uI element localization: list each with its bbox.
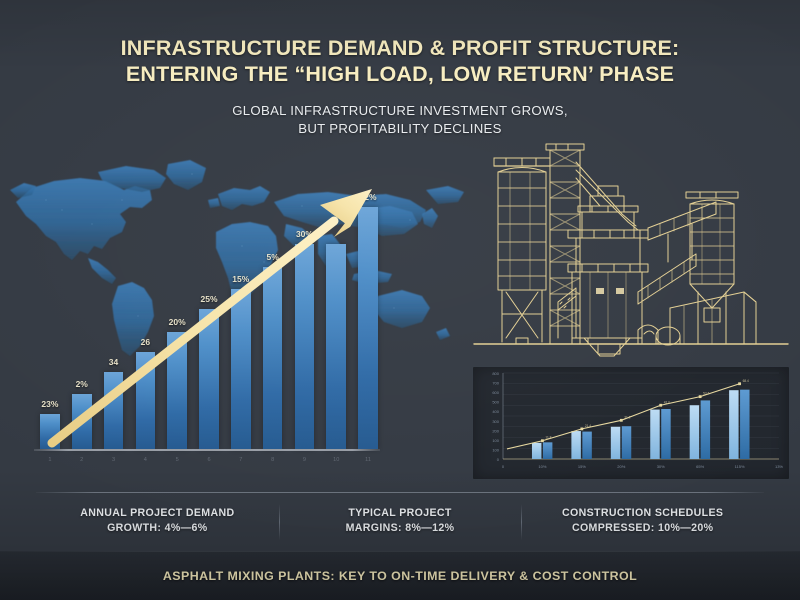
inset-line-marker: [541, 439, 544, 442]
inset-x-tick: 65%: [696, 464, 704, 469]
inset-y-tick: 100: [492, 438, 499, 443]
x-axis-tick: 5: [176, 457, 179, 463]
bar: [358, 207, 378, 450]
inset-y-tick: 500: [492, 400, 499, 405]
inset-y-tick: 100: [492, 447, 499, 452]
inset-x-tick: 0: [502, 464, 505, 469]
footer-text: ASPHALT MIXING PLANTS: KEY TO ON-TIME DE…: [163, 569, 637, 583]
bar: [295, 244, 315, 449]
x-axis-tick: 11: [365, 457, 371, 463]
chart-baseline-axis: [34, 449, 380, 451]
inset-bar: [690, 405, 699, 459]
inset-line-label: 53.6: [703, 392, 709, 396]
stat-value: COMPRESSED: 10%—20%: [521, 521, 764, 536]
main-bar-chart: 23%2%342620%25%15%5%30%22% 1234567891011: [34, 175, 384, 475]
infographic-poster: INFRASTRUCTURE DEMAND & PROFIT STRUCTURE…: [0, 0, 800, 600]
x-axis-tick: 4: [144, 457, 147, 463]
inset-line-marker: [659, 404, 662, 407]
inset-bar: [661, 409, 670, 459]
inset-y-tick: 800: [492, 371, 499, 376]
inset-line-marker: [699, 395, 702, 398]
header: INFRASTRUCTURE DEMAND & PROFIT STRUCTURE…: [0, 36, 800, 137]
inset-x-tick: 15%: [578, 464, 586, 469]
inset-y-tick: 200: [492, 428, 499, 433]
x-axis-tick: 2: [80, 457, 83, 463]
stat-label: TYPICAL PROJECT: [279, 506, 522, 521]
inset-line-label: 11.8: [545, 436, 551, 440]
bar-value-label: 30%: [296, 229, 313, 239]
inset-bar: [740, 390, 749, 459]
stat-value: MARGINS: 8%—12%: [279, 521, 522, 536]
inset-line-marker: [580, 428, 583, 431]
bar: [199, 309, 219, 449]
inset-line-label: 68.4: [743, 379, 749, 383]
inset-line-marker: [738, 382, 741, 385]
inset-y-tick: 600: [492, 390, 499, 395]
bar-value-label: 22%: [360, 192, 377, 202]
bar-value-label: 23%: [41, 399, 58, 409]
stat-item: TYPICAL PROJECTMARGINS: 8%—12%: [279, 502, 522, 537]
subtitle-line-2: BUT PROFITABILITY DECLINES: [0, 120, 800, 138]
inset-trend-chart: 800700600500400300200100100011.821.431.2…: [472, 366, 790, 480]
asphalt-plant-illustration: [472, 142, 790, 360]
x-axis-tick: 3: [112, 457, 115, 463]
stat-divider: [279, 504, 280, 540]
x-axis-tick: 1: [48, 457, 51, 463]
title-line-1: INFRASTRUCTURE DEMAND & PROFIT STRUCTURE…: [0, 36, 800, 61]
inset-bar: [582, 432, 591, 459]
bar: [326, 244, 346, 449]
inset-y-tick: 300: [492, 419, 499, 424]
bar: [167, 332, 187, 450]
inset-x-tick: 10%: [538, 464, 546, 469]
stat-label: CONSTRUCTION SCHEDULES: [521, 506, 764, 521]
inset-line-label: 42.0: [664, 400, 670, 404]
inset-bar: [543, 442, 552, 459]
inset-bar: [701, 400, 710, 459]
bar: [40, 414, 60, 449]
bar-group: 23%2%342620%25%15%5%30%22%: [34, 199, 384, 449]
bar-value-label: 5%: [266, 252, 278, 262]
stat-item: ANNUAL PROJECT DEMANDGROWTH: 4%—6%: [36, 502, 279, 537]
stat-label: ANNUAL PROJECT DEMAND: [36, 506, 279, 521]
stat-divider: [521, 504, 522, 540]
subtitle: GLOBAL INFRASTRUCTURE INVESTMENT GROWS, …: [0, 102, 800, 138]
bar-value-label: 34: [109, 357, 118, 367]
bar: [72, 394, 92, 449]
inset-bar: [650, 410, 659, 459]
bar-value-label: 25%: [200, 294, 217, 304]
x-axis-tick: 9: [303, 457, 306, 463]
inset-line-label: 21.4: [585, 424, 591, 428]
inset-x-tick: 115%: [735, 464, 745, 469]
footer-banner: ASPHALT MIXING PLANTS: KEY TO ON-TIME DE…: [0, 551, 800, 600]
inset-bar: [622, 426, 631, 459]
bar: [263, 267, 283, 450]
bar-value-label: 15%: [232, 274, 249, 284]
stats-bar: ANNUAL PROJECT DEMANDGROWTH: 4%—6%TYPICA…: [36, 502, 764, 546]
inset-y-tick: 400: [492, 409, 499, 414]
inset-y-tick: 0: [497, 457, 500, 462]
bar-value-label: 2%: [76, 379, 88, 389]
inset-x-tick: 20%: [617, 464, 625, 469]
inset-bar: [571, 431, 580, 459]
inset-x-tick: 30%: [657, 464, 665, 469]
inset-x-tick: 13%: [775, 464, 783, 469]
inset-bar: [729, 390, 738, 459]
stat-value: GROWTH: 4%—6%: [36, 521, 279, 536]
inset-bar: [611, 427, 620, 459]
bar-value-label: 20%: [169, 317, 186, 327]
x-axis-tick: 8: [271, 457, 274, 463]
bar-value-label: 26: [141, 337, 150, 347]
bar: [136, 352, 156, 450]
inset-y-tick: 700: [492, 381, 499, 386]
inset-bar: [532, 443, 541, 459]
subtitle-line-1: GLOBAL INFRASTRUCTURE INVESTMENT GROWS,: [0, 102, 800, 120]
x-axis-tick: 10: [333, 457, 339, 463]
bar: [231, 289, 251, 449]
stats-divider-rule: [36, 492, 764, 493]
title-line-2: ENTERING THE “HIGH LOAD, LOW RETURN’ PHA…: [0, 62, 800, 87]
stat-item: CONSTRUCTION SCHEDULESCOMPRESSED: 10%—20…: [521, 502, 764, 537]
x-axis-tick: 7: [239, 457, 242, 463]
x-axis-tick: 6: [207, 457, 210, 463]
inset-line-label: 31.2: [624, 415, 630, 419]
bar: [104, 372, 124, 450]
inset-line-marker: [620, 419, 623, 422]
inset-chart-content: 800700600500400300200100100011.821.431.2…: [492, 371, 783, 469]
